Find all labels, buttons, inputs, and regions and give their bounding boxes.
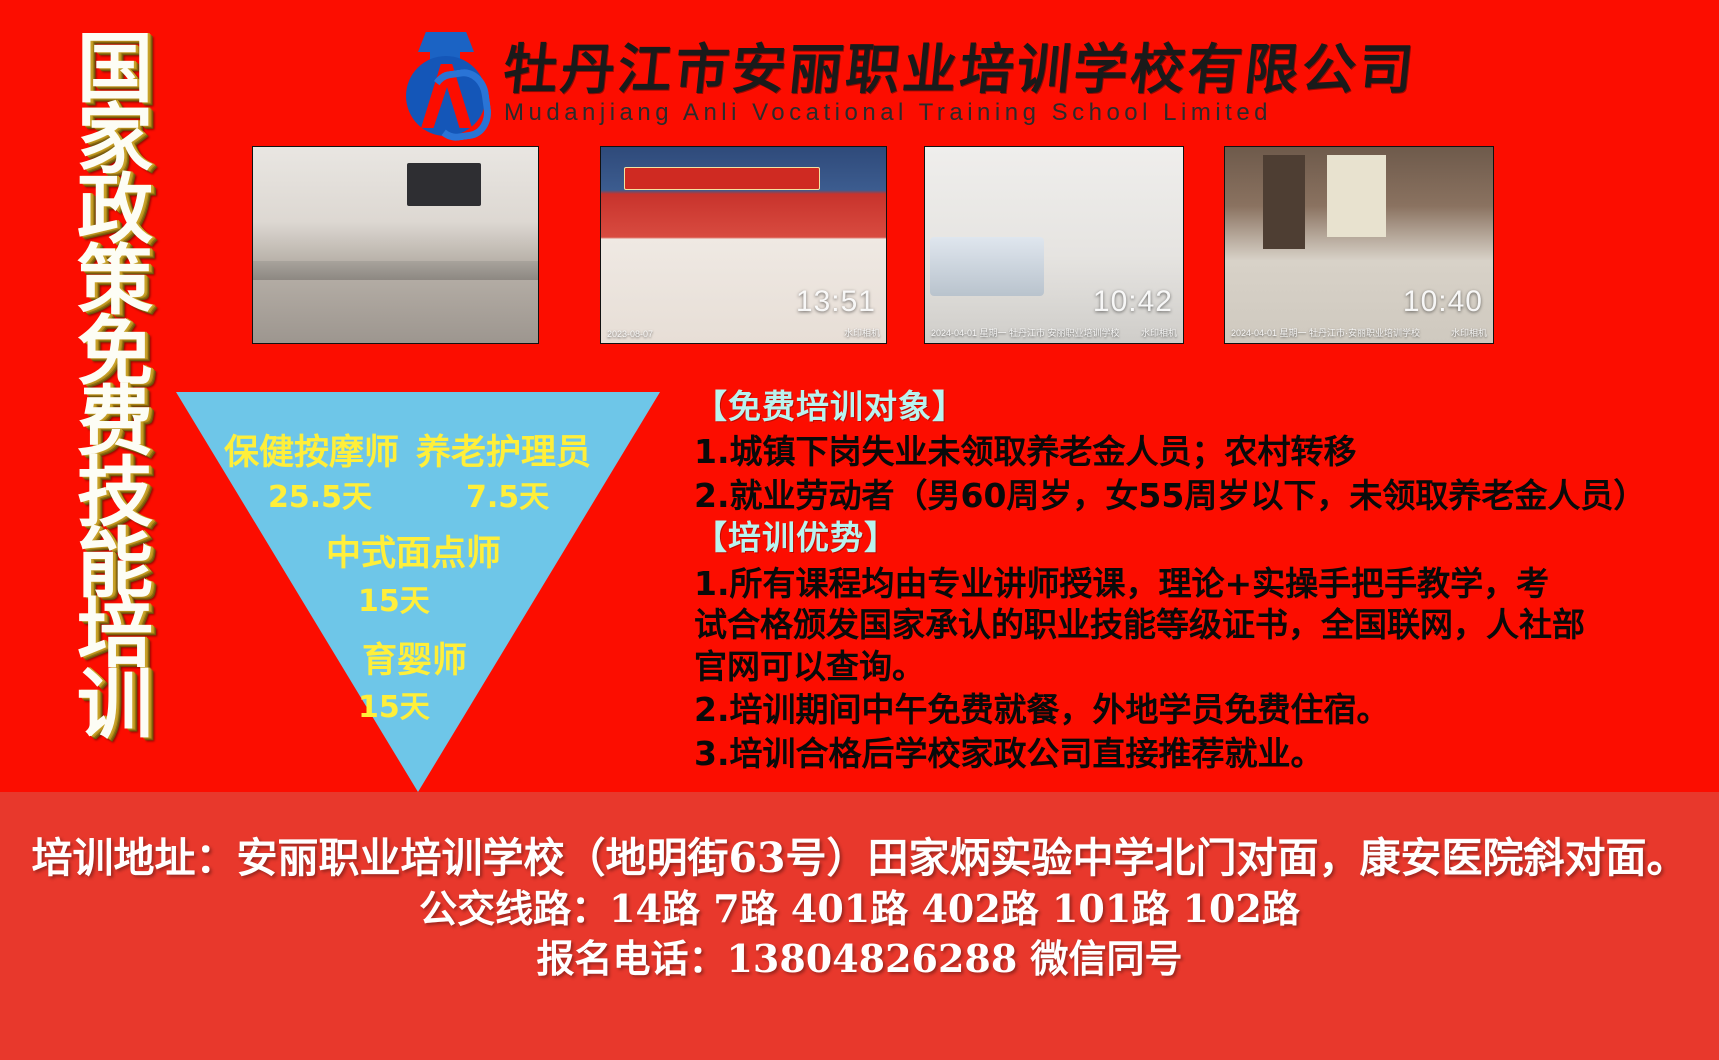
triangle-labels: 保健按摩师 养老护理员 25.5天 7.5天 中式面点师 15天 育婴师 15天	[176, 392, 660, 792]
footer-address: 培训地址：安丽职业培训学校（地明街63号）田家炳实验中学北门对面，康安医院斜对面…	[0, 824, 1719, 884]
vertical-headline: 国 家 政 策 免 费 技 能 培 训	[62, 34, 168, 741]
photo-watermark: 水印相机	[1451, 326, 1487, 339]
info-item: 3.培训合格后学校家政公司直接推荐就业。	[694, 732, 1704, 776]
photo-strip: 13:51 2023-08-07 水印相机 10:42 2024-04-01 星…	[252, 146, 1492, 342]
info-item: 1.城镇下岗失业未领取养老金人员；农村转移	[694, 430, 1704, 474]
footer-bus-routes: 公交线路：14路 7路 401路 402路 101路 102路	[0, 878, 1719, 933]
graduation-cap-logo-icon	[400, 30, 492, 138]
photo-watermark: 水印相机	[844, 326, 880, 339]
course-name: 养老护理员	[416, 424, 591, 475]
brand-header: 牡丹江市安丽职业培训学校有限公司 Mudanjiang Anli Vocatio…	[400, 28, 1300, 140]
contact-footer: 培训地址：安丽职业培训学校（地明街63号）田家炳实验中学北门对面，康安医院斜对面…	[0, 792, 1719, 1060]
photo-date-label: 2024-04-01 星期一 牡丹江市·安丽职业培训学校	[1231, 326, 1420, 339]
info-item: 1.所有课程均由专业讲师授课，理论+实操手把手教学，考	[694, 562, 1704, 606]
photo-item	[252, 146, 539, 344]
info-item: 官网可以查询。	[694, 645, 1704, 689]
poster-root: 国 家 政 策 免 费 技 能 培 训 牡丹江市安丽职业培训学校有限公司 Mud…	[0, 0, 1719, 1060]
photo-watermark: 水印相机	[1141, 326, 1177, 339]
photo-timestamp: 10:42	[1093, 285, 1173, 319]
info-item: 试合格颁发国家承认的职业技能等级证书，全国联网，人社部	[694, 603, 1704, 647]
info-item: 2.就业劳动者（男60周岁，女55周岁以下，未领取养老金人员）	[694, 474, 1704, 518]
company-name-cn: 牡丹江市安丽职业培训学校有限公司	[501, 41, 1419, 98]
course-days: 15天	[358, 576, 430, 620]
photo-timestamp: 10:40	[1403, 285, 1483, 319]
info-item: 2.培训期间中午免费就餐，外地学员免费住宿。	[694, 688, 1704, 732]
photo-item: 10:42 2024-04-01 星期一 牡丹江市 安丽职业培训学校 水印相机	[924, 146, 1184, 344]
photo-date-label: 2023-08-07	[607, 329, 653, 339]
photo-item: 13:51 2023-08-07 水印相机	[600, 146, 887, 344]
course-days: 25.5天	[268, 472, 372, 516]
vertical-headline-char: 训	[77, 670, 153, 741]
info-heading-advantages: 【培训优势】	[694, 517, 1704, 559]
course-days: 15天	[358, 682, 430, 726]
photo-item: 10:40 2024-04-01 星期一 牡丹江市·安丽职业培训学校 水印相机	[1224, 146, 1494, 344]
course-name: 保健按摩师	[224, 424, 399, 475]
course-name: 中式面点师	[326, 525, 501, 576]
info-heading-eligibility: 【免费培训对象】	[694, 386, 1704, 428]
photo-timestamp: 13:51	[796, 285, 876, 319]
course-name: 育婴师	[362, 632, 467, 683]
photo-date-label: 2024-04-01 星期一 牡丹江市 安丽职业培训学校	[931, 326, 1120, 339]
brand-text: 牡丹江市安丽职业培训学校有限公司 Mudanjiang Anli Vocatio…	[504, 41, 1416, 128]
company-name-en: Mudanjiang Anli Vocational Training Scho…	[504, 99, 1416, 127]
course-triangle: 保健按摩师 养老护理员 25.5天 7.5天 中式面点师 15天 育婴师 15天	[176, 392, 660, 792]
footer-phone[interactable]: 报名电话：13804826288 微信同号	[0, 928, 1719, 983]
course-days: 7.5天	[466, 472, 549, 516]
info-block: 【免费培训对象】 1.城镇下岗失业未领取养老金人员；农村转移 2.就业劳动者（男…	[694, 386, 1704, 775]
